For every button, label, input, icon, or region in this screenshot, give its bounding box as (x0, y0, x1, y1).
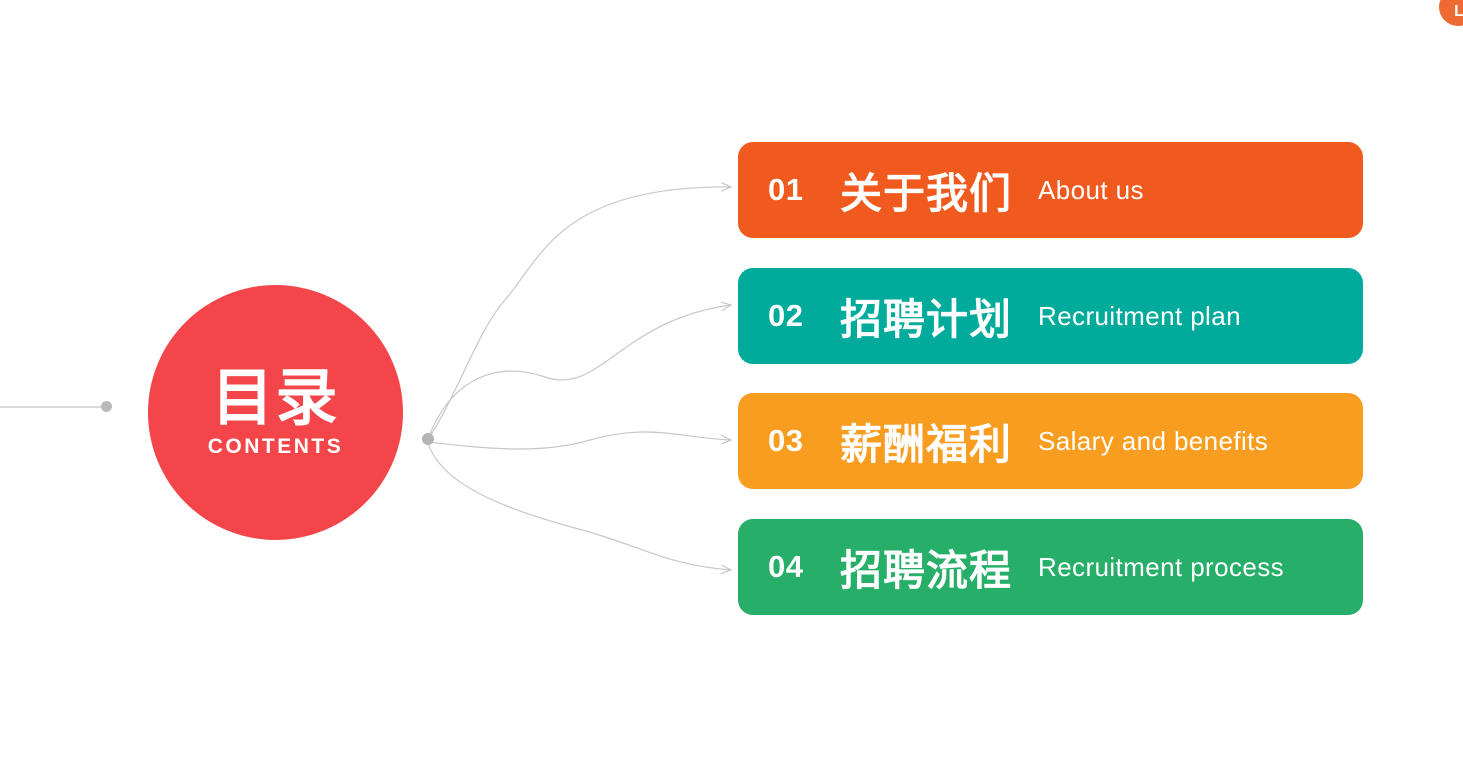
agenda-item-04-label-en: Recruitment process (1038, 552, 1284, 583)
lead-in-dot (101, 401, 112, 412)
agenda-item-02[interactable]: 02 招聘计划 Recruitment plan (738, 268, 1363, 364)
lead-in-line (0, 406, 104, 408)
agenda-item-04-index: 04 (768, 549, 840, 585)
agenda-item-03-index: 03 (768, 423, 840, 459)
contents-circle: 目录 CONTENTS (148, 285, 403, 540)
connector-path-2 (428, 305, 731, 439)
agenda-item-01[interactable]: 01 关于我们 About us (738, 142, 1363, 238)
agenda-item-02-label-en: Recruitment plan (1038, 301, 1241, 332)
connector-path-3 (428, 432, 731, 449)
agenda-item-04[interactable]: 04 招聘流程 Recruitment process (738, 519, 1363, 615)
connector-path-4 (428, 443, 731, 570)
contents-title-cn: 目录 (211, 366, 339, 431)
contents-title-en: CONTENTS (208, 435, 344, 459)
corner-badge-icon[interactable]: L (1439, 0, 1463, 26)
hub-node-dot (422, 433, 434, 445)
agenda-item-01-index: 01 (768, 172, 840, 208)
contents-slide: 目录 CONTENTS 01 关于我们 About us 02 招聘计划 Rec… (0, 0, 1463, 766)
agenda-item-04-label-cn: 招聘流程 (840, 537, 1012, 598)
agenda-item-03-label-cn: 薪酬福利 (840, 411, 1012, 472)
agenda-item-01-label-cn: 关于我们 (840, 160, 1012, 221)
corner-badge-glyph: L (1452, 0, 1463, 20)
agenda-item-01-label-en: About us (1038, 175, 1144, 206)
agenda-item-02-label-cn: 招聘计划 (840, 286, 1012, 347)
agenda-item-03[interactable]: 03 薪酬福利 Salary and benefits (738, 393, 1363, 489)
connector-path-1 (428, 187, 731, 439)
agenda-item-03-label-en: Salary and benefits (1038, 426, 1268, 457)
agenda-item-02-index: 02 (768, 298, 840, 334)
